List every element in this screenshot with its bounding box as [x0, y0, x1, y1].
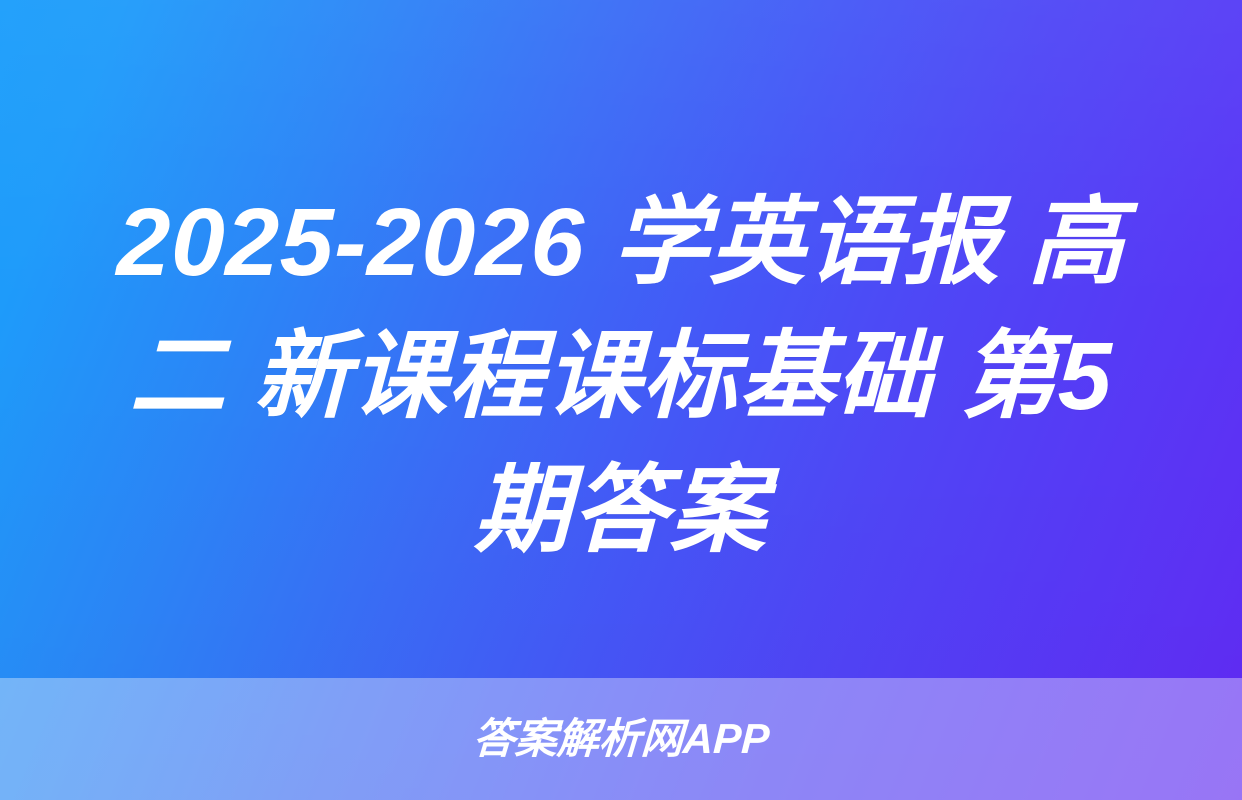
app-watermark-label: 答案解析网APP: [472, 718, 771, 760]
title-line-3: 期答案: [35, 444, 1207, 578]
cover-card: 2025-2026 学英语报 高 二 新课程课标基础 第5 期答案 答案解析网A…: [0, 0, 1242, 800]
footer-watermark-band: 答案解析网APP: [0, 678, 1242, 800]
title-line-2: 二 新课程课标基础 第5: [35, 310, 1207, 444]
page-title: 2025-2026 学英语报 高 二 新课程课标基础 第5 期答案: [0, 176, 1242, 578]
title-line-1: 2025-2026 学英语报 高: [35, 176, 1207, 310]
